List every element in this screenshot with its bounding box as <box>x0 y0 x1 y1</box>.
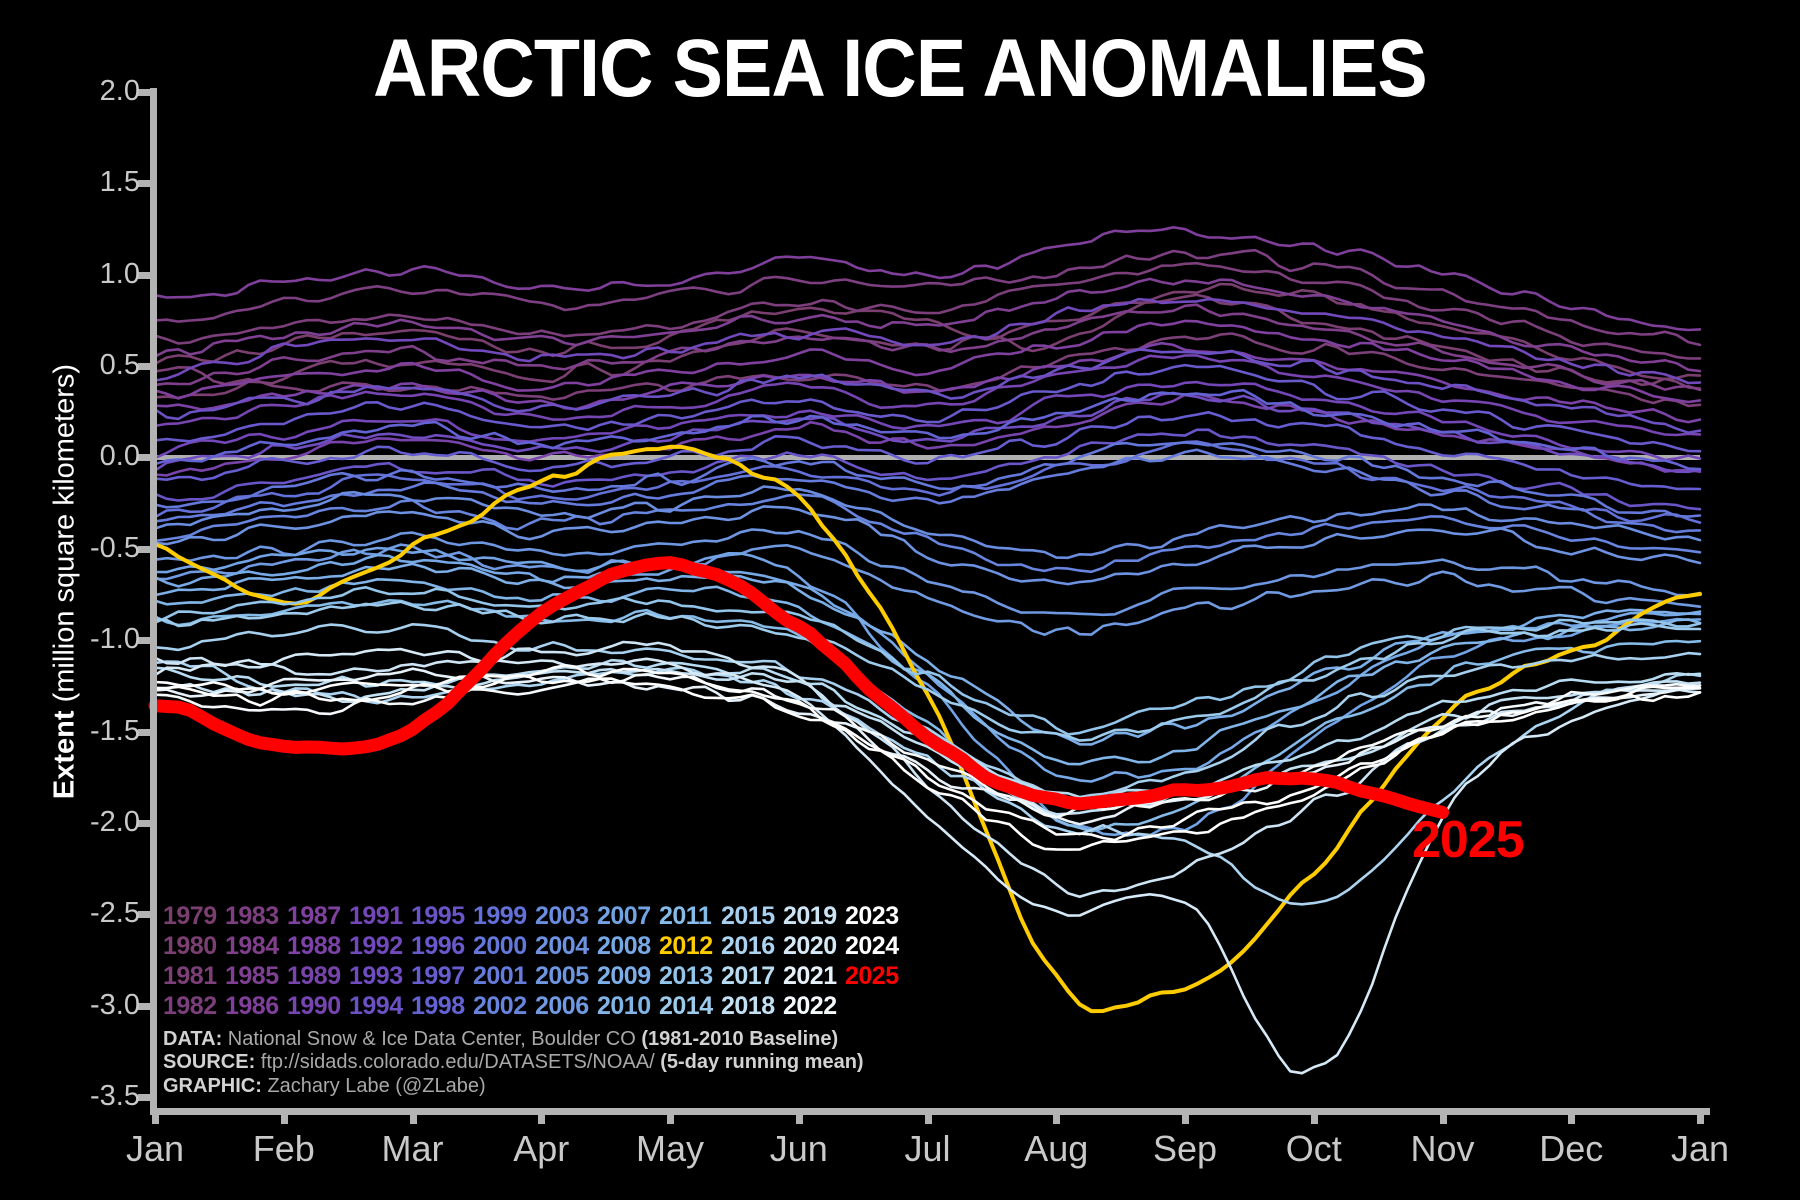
y-axis-title: Extent (million square kilometers) <box>49 302 82 862</box>
y-axis-line <box>150 88 157 1108</box>
legend-row: 1981198519891993199720012005200920132017… <box>163 962 907 992</box>
y-tick-label: -2.5 <box>20 897 140 930</box>
annotation-2025: 2025 <box>1412 810 1524 870</box>
legend-year-2000[interactable]: 2000 <box>473 932 535 961</box>
x-tick <box>925 1108 932 1124</box>
legend-year-2005[interactable]: 2005 <box>535 962 597 991</box>
y-tick <box>138 363 153 370</box>
credit-key: GRAPHIC: <box>163 1075 262 1097</box>
credit-value: National Snow & Ice Data Center, Boulder… <box>222 1028 641 1050</box>
y-tick-label: -3.5 <box>20 1080 140 1113</box>
x-tick-label: Jul <box>858 1128 998 1170</box>
legend-row: 1980198419881992199620002004200820122016… <box>163 932 907 962</box>
y-tick <box>138 454 153 461</box>
legend-year-1982[interactable]: 1982 <box>163 992 225 1021</box>
legend-year-2004[interactable]: 2004 <box>535 932 597 961</box>
x-tick <box>796 1108 803 1124</box>
legend-year-1992[interactable]: 1992 <box>349 932 411 961</box>
y-tick <box>138 546 153 553</box>
legend-year-2009[interactable]: 2009 <box>597 962 659 991</box>
x-tick <box>1311 1108 1318 1124</box>
legend-year-2012[interactable]: 2012 <box>659 932 721 961</box>
chart-canvas: ARCTIC SEA ICE ANOMALIES 2.01.51.00.50.0… <box>0 0 1800 1200</box>
legend-year-2003[interactable]: 2003 <box>535 902 597 931</box>
legend-year-2001[interactable]: 2001 <box>473 962 535 991</box>
y-axis-title-rest: (million square kilometers) <box>49 364 81 711</box>
legend-year-1999[interactable]: 1999 <box>473 902 535 931</box>
x-tick <box>281 1108 288 1124</box>
y-tick-label: 2.0 <box>20 75 140 108</box>
x-tick-label: Sep <box>1115 1128 1255 1170</box>
x-tick <box>1440 1108 1447 1124</box>
year-legend: 1979198319871991199519992003200720112015… <box>163 902 907 1022</box>
y-tick <box>138 272 153 279</box>
legend-year-2006[interactable]: 2006 <box>535 992 597 1021</box>
legend-year-2020[interactable]: 2020 <box>783 932 845 961</box>
legend-row: 1982198619901994199820022006201020142018… <box>163 992 907 1022</box>
credit-value: Zachary Labe (@ZLabe) <box>262 1075 486 1097</box>
x-tick-label: Feb <box>214 1128 354 1170</box>
legend-year-2010[interactable]: 2010 <box>597 992 659 1021</box>
x-tick-label: May <box>600 1128 740 1170</box>
y-tick <box>138 911 153 918</box>
x-tick-label: Dec <box>1501 1128 1641 1170</box>
credit-note: (5-day running mean) <box>660 1051 863 1073</box>
x-tick-label: Nov <box>1373 1128 1513 1170</box>
credit-note: (1981-2010 Baseline) <box>641 1028 838 1050</box>
credit-line: GRAPHIC: Zachary Labe (@ZLabe) <box>163 1075 864 1098</box>
legend-year-1983[interactable]: 1983 <box>225 902 287 931</box>
y-tick-label: 1.5 <box>20 166 140 199</box>
legend-year-2023[interactable]: 2023 <box>845 902 907 931</box>
x-tick-label: Jan <box>85 1128 225 1170</box>
legend-year-1993[interactable]: 1993 <box>349 962 411 991</box>
credits-block: DATA: National Snow & Ice Data Center, B… <box>163 1028 864 1098</box>
legend-year-2021[interactable]: 2021 <box>783 962 845 991</box>
legend-year-1984[interactable]: 1984 <box>225 932 287 961</box>
legend-year-2017[interactable]: 2017 <box>721 962 783 991</box>
legend-year-2007[interactable]: 2007 <box>597 902 659 931</box>
y-tick <box>138 820 153 827</box>
credit-line: DATA: National Snow & Ice Data Center, B… <box>163 1028 864 1051</box>
legend-year-1996[interactable]: 1996 <box>411 932 473 961</box>
x-tick <box>1568 1108 1575 1124</box>
legend-year-2016[interactable]: 2016 <box>721 932 783 961</box>
legend-year-1980[interactable]: 1980 <box>163 932 225 961</box>
y-tick-label: 1.0 <box>20 258 140 291</box>
legend-year-1981[interactable]: 1981 <box>163 962 225 991</box>
legend-row: 1979198319871991199519992003200720112015… <box>163 902 907 932</box>
x-tick <box>1697 1108 1704 1124</box>
x-tick <box>410 1108 417 1124</box>
legend-year-2008[interactable]: 2008 <box>597 932 659 961</box>
legend-year-2018[interactable]: 2018 <box>721 992 783 1021</box>
legend-year-1991[interactable]: 1991 <box>349 902 411 931</box>
legend-year-1995[interactable]: 1995 <box>411 902 473 931</box>
x-tick-label: Jun <box>729 1128 869 1170</box>
y-tick <box>138 1003 153 1010</box>
y-axis-title-bold: Extent <box>49 710 81 799</box>
legend-year-2002[interactable]: 2002 <box>473 992 535 1021</box>
legend-year-2022[interactable]: 2022 <box>783 992 845 1021</box>
y-tick <box>138 729 153 736</box>
legend-year-2024[interactable]: 2024 <box>845 932 907 961</box>
credit-line: SOURCE: ftp://sidads.colorado.edu/DATASE… <box>163 1051 864 1074</box>
legend-year-1987[interactable]: 1987 <box>287 902 349 931</box>
x-tick-label: Jan <box>1630 1128 1770 1170</box>
credit-value: ftp://sidads.colorado.edu/DATASETS/NOAA/ <box>255 1051 660 1073</box>
legend-year-1979[interactable]: 1979 <box>163 902 225 931</box>
y-tick <box>138 180 153 187</box>
y-tick <box>138 89 153 96</box>
legend-year-2014[interactable]: 2014 <box>659 992 721 1021</box>
legend-year-1985[interactable]: 1985 <box>225 962 287 991</box>
legend-year-1997[interactable]: 1997 <box>411 962 473 991</box>
x-tick-label: Aug <box>986 1128 1126 1170</box>
x-tick-label: Oct <box>1244 1128 1384 1170</box>
legend-year-2019[interactable]: 2019 <box>783 902 845 931</box>
x-tick <box>1182 1108 1189 1124</box>
credit-key: DATA: <box>163 1028 222 1050</box>
legend-year-1990[interactable]: 1990 <box>287 992 349 1021</box>
legend-year-2011[interactable]: 2011 <box>659 902 721 931</box>
legend-year-1986[interactable]: 1986 <box>225 992 287 1021</box>
legend-year-1994[interactable]: 1994 <box>349 992 411 1021</box>
credit-key: SOURCE: <box>163 1051 255 1073</box>
x-tick <box>538 1108 545 1124</box>
x-tick <box>152 1108 159 1124</box>
x-tick <box>1053 1108 1060 1124</box>
legend-year-2013[interactable]: 2013 <box>659 962 721 991</box>
legend-year-1988[interactable]: 1988 <box>287 932 349 961</box>
y-tick <box>138 637 153 644</box>
x-tick-label: Mar <box>343 1128 483 1170</box>
legend-year-2015[interactable]: 2015 <box>721 902 783 931</box>
legend-year-2025[interactable]: 2025 <box>845 962 907 991</box>
x-tick-label: Apr <box>471 1128 611 1170</box>
x-tick <box>667 1108 674 1124</box>
legend-year-1989[interactable]: 1989 <box>287 962 349 991</box>
legend-year-1998[interactable]: 1998 <box>411 992 473 1021</box>
y-tick-label: -3.0 <box>20 989 140 1022</box>
y-tick <box>138 1094 153 1101</box>
